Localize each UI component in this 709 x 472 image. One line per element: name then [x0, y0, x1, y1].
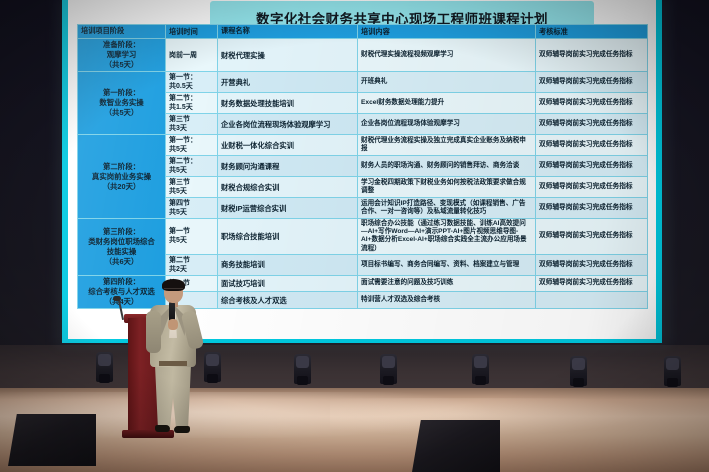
shoe-left	[155, 425, 170, 432]
table-row: 准备阶段：观摩学习（共5天）岗前一周财税代理实操财税代理实操流程视频观摩学习双师…	[78, 39, 648, 72]
cell-course: 职场综合技能培训	[218, 219, 358, 255]
column-header-stage: 培训项目阶段	[78, 25, 166, 39]
column-header-standard: 考核标准	[536, 25, 648, 39]
cell-standard: 双师辅导岗前实习完成任务指标	[536, 135, 648, 156]
floor-reflection-right	[330, 398, 709, 438]
cell-time: 第一节共5天	[166, 219, 218, 255]
cell-standard: 双师辅导岗前实习完成任务指标	[536, 275, 648, 292]
stage-light	[204, 352, 221, 382]
stage-light	[294, 354, 311, 384]
stage-light	[570, 356, 587, 386]
cell-course: 开营典礼	[218, 72, 358, 93]
cell-standard: 双师辅导岗前实习完成任务指标	[536, 93, 648, 114]
cell-course: 财税代理实操	[218, 39, 358, 72]
cell-content: 面试需要注意的问题及技巧训练	[358, 275, 536, 292]
cell-time: 第二节：共5天	[166, 156, 218, 177]
cell-course: 业财税一体化综合实训	[218, 135, 358, 156]
stage-light	[380, 354, 397, 384]
cell-content: 开班典礼	[358, 72, 536, 93]
cell-course: 综合考核及人才双选	[218, 292, 358, 309]
speaker-person	[140, 281, 204, 439]
glasses-icon	[164, 288, 183, 293]
stage-light	[664, 356, 681, 386]
cell-time: 第二节：共1.5天	[166, 93, 218, 114]
podium-mic-icon	[113, 296, 121, 301]
cell-course: 面试技巧培训	[218, 275, 358, 292]
column-header-time: 培训时间	[166, 25, 218, 39]
table-header-row: 培训项目阶段 培训时间 课程名称 培训内容 考核标准	[78, 25, 648, 39]
table-row: 第三阶段：类财务岗位职场综合技能实操（共6天）第一节共5天职场综合技能培训职场综…	[78, 219, 648, 255]
cell-standard: 双师辅导岗前实习完成任务指标	[536, 254, 648, 275]
cell-time: 第一节：共5天	[166, 135, 218, 156]
cell-content: 财税代理业务流程实操及独立完成真实企业账务及纳税申报	[358, 135, 536, 156]
table-row: 第一阶段：数智业务实操（共5天）第一节：共0.5天开营典礼开班典礼双师辅导岗前实…	[78, 72, 648, 93]
stage-light	[96, 352, 113, 382]
column-header-course: 课程名称	[218, 25, 358, 39]
cell-course: 商务技能培训	[218, 254, 358, 275]
cell-time: 第一节：共0.5天	[166, 72, 218, 93]
cell-course: 财税合规综合实训	[218, 177, 358, 198]
floor-monitor	[8, 414, 96, 466]
cell-content: 职场综合办公技能（通过练习数据技能、训练AI高效提问—AI+写作Word—AI+…	[358, 219, 536, 255]
cell-content: 项目标书编写、商务合同编写、资料、档案建立与管理	[358, 254, 536, 275]
cell-course: 财税IP运营综合实训	[218, 198, 358, 219]
screenshot-root: 数字化社会财务共享中心现场工程师班课程计划 培训项目阶段 培训时间 课程名称 培…	[0, 0, 709, 472]
course-plan-table: 培训项目阶段 培训时间 课程名称 培训内容 考核标准 准备阶段：观摩学习（共5天…	[77, 24, 648, 309]
cell-stage: 第二阶段：真实岗前业务实操（共20天）	[78, 135, 166, 219]
cell-time: 岗前一周	[166, 39, 218, 72]
cell-standard: 双师辅导岗前实习完成任务指标	[536, 156, 648, 177]
cell-course: 财务顾问沟通课程	[218, 156, 358, 177]
cell-standard	[536, 292, 648, 309]
cell-standard: 双师辅导岗前实习完成任务指标	[536, 177, 648, 198]
table-body: 准备阶段：观摩学习（共5天）岗前一周财税代理实操财税代理实操流程视频观摩学习双师…	[78, 39, 648, 309]
column-header-content: 培训内容	[358, 25, 536, 39]
cell-time: 第三节共5天	[166, 177, 218, 198]
cell-content: 财务人员的职场沟通、财务顾问的销售拜访、商务洽谈	[358, 156, 536, 177]
floor-monitor	[412, 420, 500, 472]
cell-content: 财税代理实操流程视频观摩学习	[358, 39, 536, 72]
cell-content: Excel财务数据处理能力提升	[358, 93, 536, 114]
cell-time: 第二节共2天	[166, 254, 218, 275]
cell-stage: 第三阶段：类财务岗位职场综合技能实操（共6天）	[78, 219, 166, 276]
cell-standard: 双师辅导岗前实习完成任务指标	[536, 39, 648, 72]
table-row: 第二阶段：真实岗前业务实操（共20天）第一节：共5天业财税一体化综合实训财税代理…	[78, 135, 648, 156]
cell-content: 企业各岗位流程现场体验观摩学习	[358, 114, 536, 135]
cell-standard: 双师辅导岗前实习完成任务指标	[536, 72, 648, 93]
cell-time: 第四节共5天	[166, 198, 218, 219]
cell-stage: 准备阶段：观摩学习（共5天）	[78, 39, 166, 72]
cell-content: 学习金税四期政策下财税业务如何按税法政策要求做合规调整	[358, 177, 536, 198]
cell-course: 财务数据处理技能培训	[218, 93, 358, 114]
stage-light	[472, 354, 489, 384]
cell-course: 企业各岗位流程现场体验观摩学习	[218, 114, 358, 135]
cell-standard: 双师辅导岗前实习完成任务指标	[536, 114, 648, 135]
cell-standard: 双师辅导岗前实习完成任务指标	[536, 219, 648, 255]
cell-content: 运用会计知识IP打造路径、变现模式（如课程销售、广告合作、一对一咨询等）及私域流…	[358, 198, 536, 219]
cell-content: 特训营人才双选及综合考核	[358, 292, 536, 309]
cell-time: 第三节共3天	[166, 114, 218, 135]
cell-standard: 双师辅导岗前实习完成任务指标	[536, 198, 648, 219]
cell-stage: 第一阶段：数智业务实操（共5天）	[78, 72, 166, 135]
shoe-right	[174, 426, 190, 433]
